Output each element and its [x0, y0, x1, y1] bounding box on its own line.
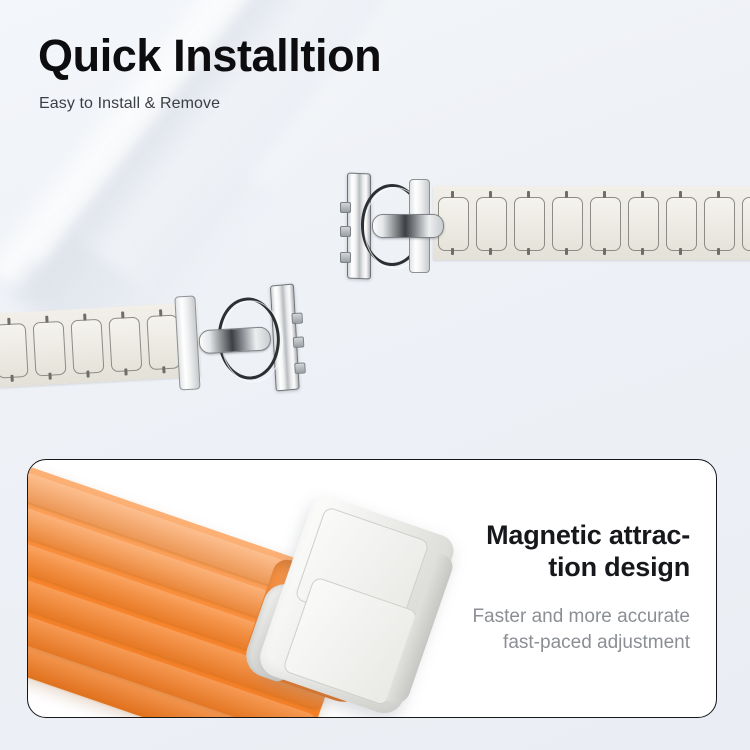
band-tick-top [451, 191, 454, 198]
band-tick-bottom [48, 373, 51, 380]
feature-title-line-1: Magnetic attrac- [486, 520, 690, 550]
band-tick-bottom [641, 248, 644, 255]
band-tick-top [121, 311, 124, 318]
clasp-nub-1-icon [291, 312, 303, 324]
band-tick-top [641, 191, 644, 198]
band-segment [514, 197, 545, 251]
clasp-horizontal-bar-icon [198, 326, 271, 354]
feature-subtitle-line-1: Faster and more accurate [472, 606, 690, 627]
feature-card-inner: Magnetic attrac- tion design Faster and … [28, 460, 716, 717]
feature-card: Magnetic attrac- tion design Faster and … [27, 459, 717, 718]
band-segment [33, 321, 67, 377]
band-tick-top [83, 314, 86, 321]
product-marketing-page: Quick Installtion Easy to Install & Remo… [0, 0, 750, 750]
band-tick-bottom [86, 370, 89, 377]
band-tick-top [565, 191, 568, 198]
band-strip-top [433, 186, 750, 260]
band-tick-top [679, 191, 682, 198]
band-tick-bottom [162, 366, 165, 373]
band-tick-top [717, 191, 720, 198]
clasp-nub-2-icon [340, 226, 351, 237]
band-tick-top [489, 191, 492, 198]
band-segment [552, 197, 583, 251]
clasp-nub-2-icon [293, 336, 305, 348]
band-tick-top [7, 318, 10, 325]
band-tick-top [527, 191, 530, 198]
feature-text-block: Magnetic attrac- tion design Faster and … [390, 520, 690, 655]
feature-title: Magnetic attrac- tion design [390, 520, 690, 583]
band-segment [666, 197, 697, 251]
band-segment [704, 197, 735, 251]
clasp-nub-3-icon [340, 252, 351, 263]
page-title: Quick Installtion [38, 32, 638, 79]
band-segment [108, 317, 142, 373]
clasp-nub-3-icon [294, 362, 306, 374]
band-segment [70, 319, 104, 375]
band-segment [0, 323, 29, 379]
page-subtitle: Easy to Install & Remove [39, 95, 638, 113]
band-tick-bottom [124, 368, 127, 375]
band-tick-bottom [679, 248, 682, 255]
band-tick-bottom [489, 248, 492, 255]
band-segment [628, 197, 659, 251]
band-tick-bottom [565, 248, 568, 255]
band-tick-top [159, 309, 162, 316]
clasp-nub-1-icon [340, 202, 351, 213]
band-tick-bottom [10, 375, 13, 382]
header-block: Quick Installtion Easy to Install & Remo… [38, 32, 638, 113]
feature-subtitle-line-2: fast-paced adjustment [503, 632, 690, 653]
band-strip-bottom [0, 302, 201, 387]
band-tick-bottom [527, 248, 530, 255]
band-tick-top [45, 316, 48, 323]
feature-subtitle: Faster and more accurate fast-paced adju… [390, 604, 690, 655]
feature-title-line-2: tion design [548, 552, 690, 582]
band-tick-bottom [603, 248, 606, 255]
band-tick-bottom [717, 248, 720, 255]
band-tick-top [603, 191, 606, 198]
band-segment [742, 197, 750, 251]
band-segment [476, 197, 507, 251]
band-tick-bottom [451, 248, 454, 255]
band-segment [590, 197, 621, 251]
clasp-horizontal-bar-icon [372, 214, 444, 238]
